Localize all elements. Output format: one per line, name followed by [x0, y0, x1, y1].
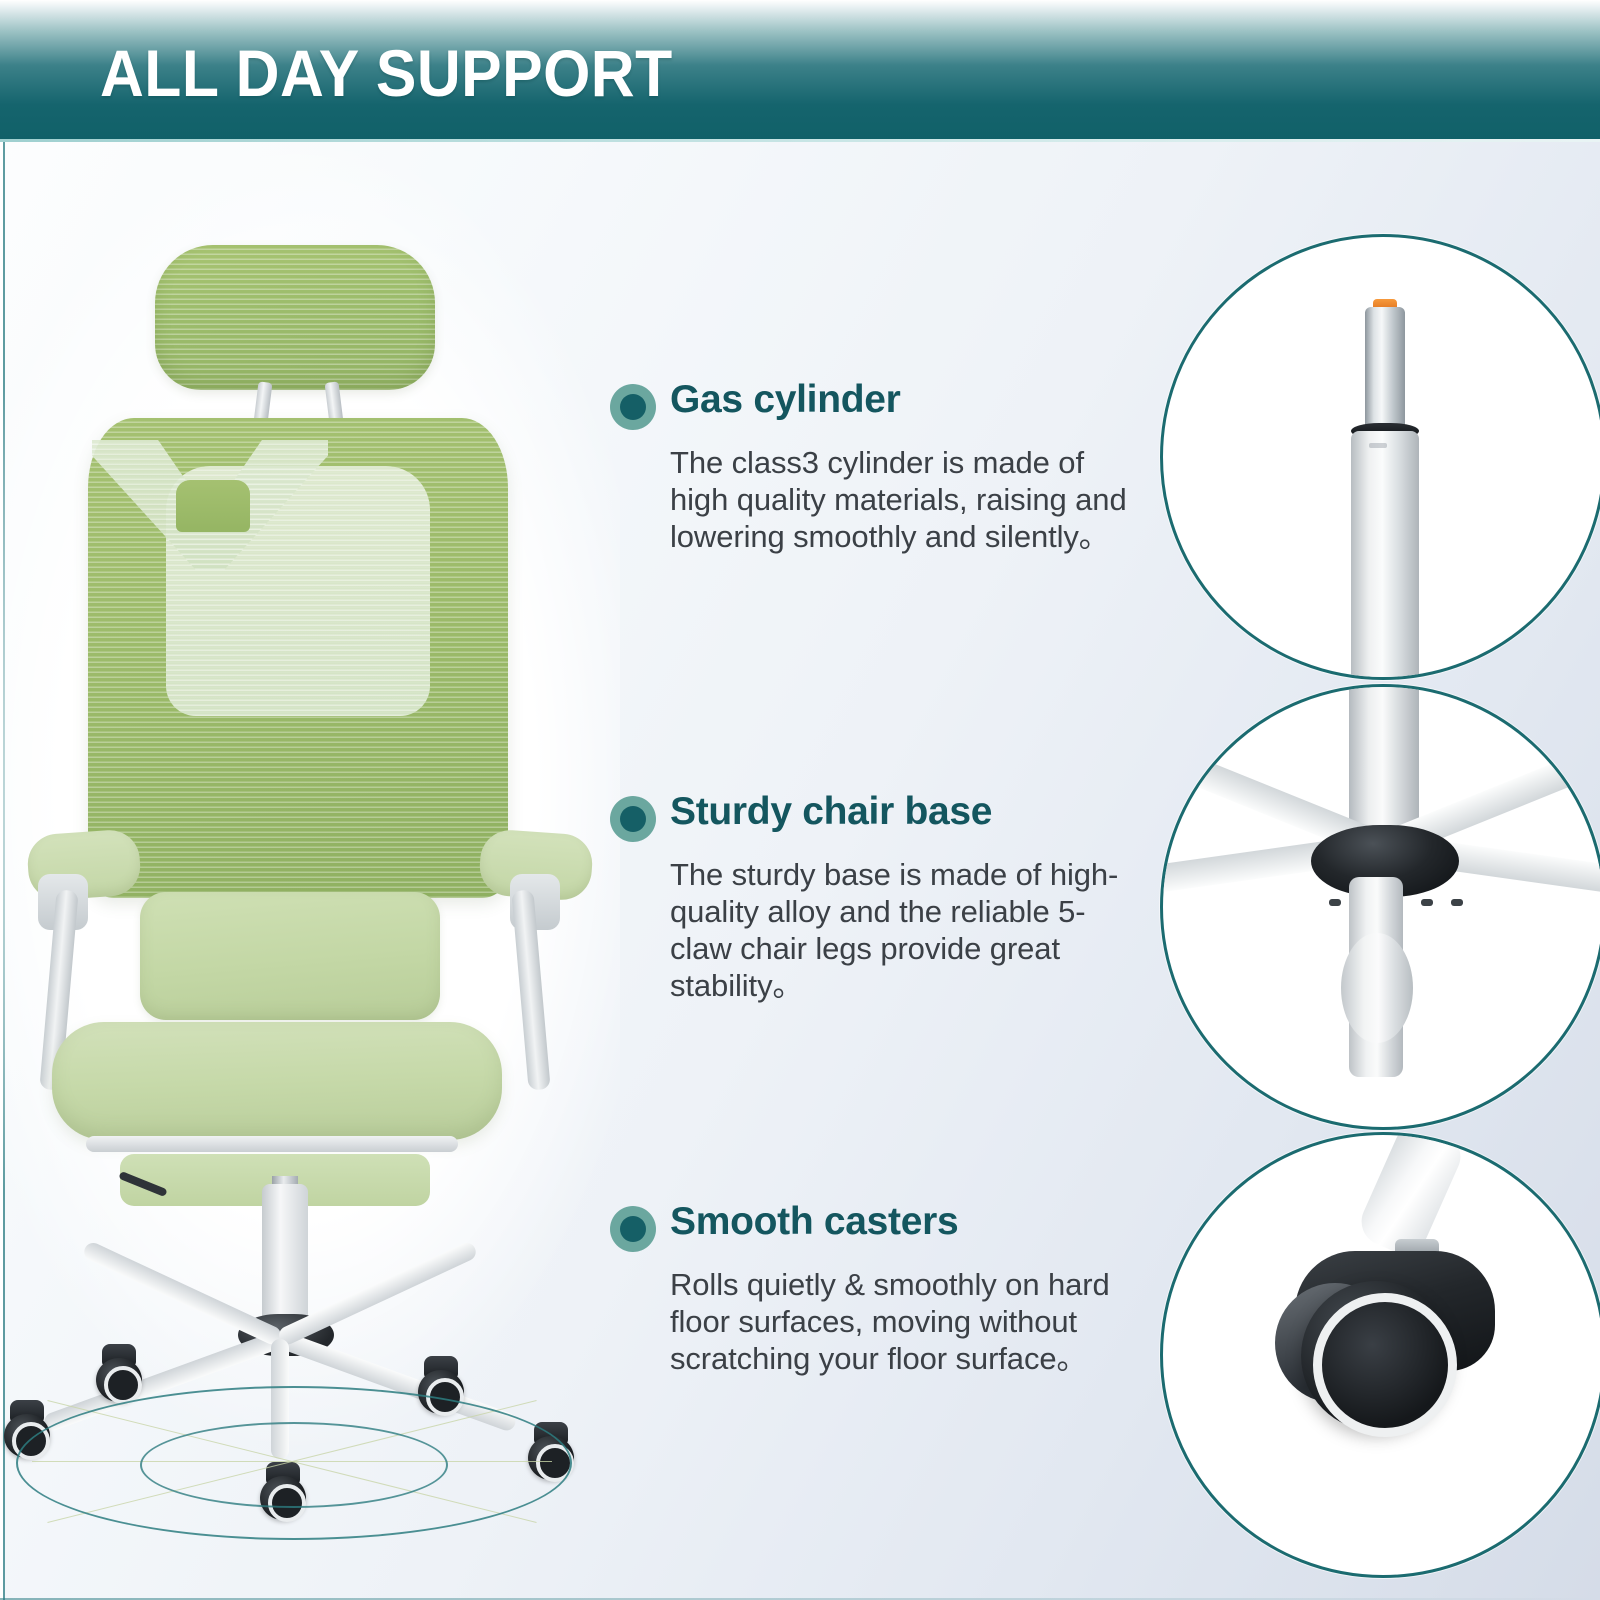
feature-description: Rolls quietly & smoothly on hard floor s… [670, 1266, 1136, 1377]
page-title: ALL DAY SUPPORT [100, 36, 673, 110]
bullet-dot-icon [610, 1206, 656, 1252]
gas-cylinder-photo [1160, 234, 1600, 680]
bullet-dot-icon [610, 384, 656, 430]
bullet-inner-dot [620, 394, 646, 420]
base-photo-screw [1329, 899, 1341, 906]
feature-title: Smooth casters [670, 1200, 958, 1244]
backrest-center-tab [176, 480, 250, 532]
chair-seat-cushion [52, 1022, 502, 1140]
base-photo-screw [1421, 899, 1433, 906]
bullet-inner-dot [620, 806, 646, 832]
feature-heading-row: Smooth casters [604, 1200, 1134, 1254]
swivel-radius-inner [140, 1422, 448, 1508]
feature-list: Gas cylinder The class3 cylinder is made… [604, 0, 1144, 1600]
feature-heading-row: Gas cylinder [604, 378, 1134, 432]
base-photo-lower-bulge [1341, 933, 1413, 1043]
feature-title: Sturdy chair base [670, 790, 992, 834]
office-chair-photo [0, 150, 620, 1570]
feature-title: Gas cylinder [670, 378, 901, 422]
feature-description: The sturdy base is made of high-quality … [670, 856, 1136, 1004]
cylinder-chrome-rod [1365, 307, 1405, 435]
feature-smooth-casters: Smooth casters Rolls quietly & smoothly … [604, 1200, 1134, 1377]
cylinder-white-body [1351, 431, 1419, 677]
chair-base-photo [1160, 684, 1600, 1130]
chair-caster [92, 1344, 146, 1402]
caster-rim [104, 1366, 142, 1404]
base-photo-screw [1451, 899, 1463, 906]
bullet-inner-dot [620, 1216, 646, 1242]
feature-gas-cylinder: Gas cylinder The class3 cylinder is made… [604, 378, 1134, 555]
gas-cylinder-column [262, 1184, 308, 1322]
bullet-dot-icon [610, 796, 656, 842]
cylinder-surface-mark [1369, 443, 1387, 448]
feature-sturdy-chair-base: Sturdy chair base The sturdy base is mad… [604, 790, 1134, 1004]
caster-photo-rim [1313, 1293, 1457, 1437]
feature-description: The class3 cylinder is made of high qual… [670, 444, 1136, 555]
feature-heading-row: Sturdy chair base [604, 790, 1134, 844]
chair-lumbar-cushion [140, 892, 440, 1020]
chair-headrest [155, 245, 435, 390]
seat-slide-rail [86, 1136, 458, 1152]
infographic-page: ALL DAY SUPPORT [0, 0, 1600, 1600]
caster-photo [1160, 1132, 1600, 1578]
